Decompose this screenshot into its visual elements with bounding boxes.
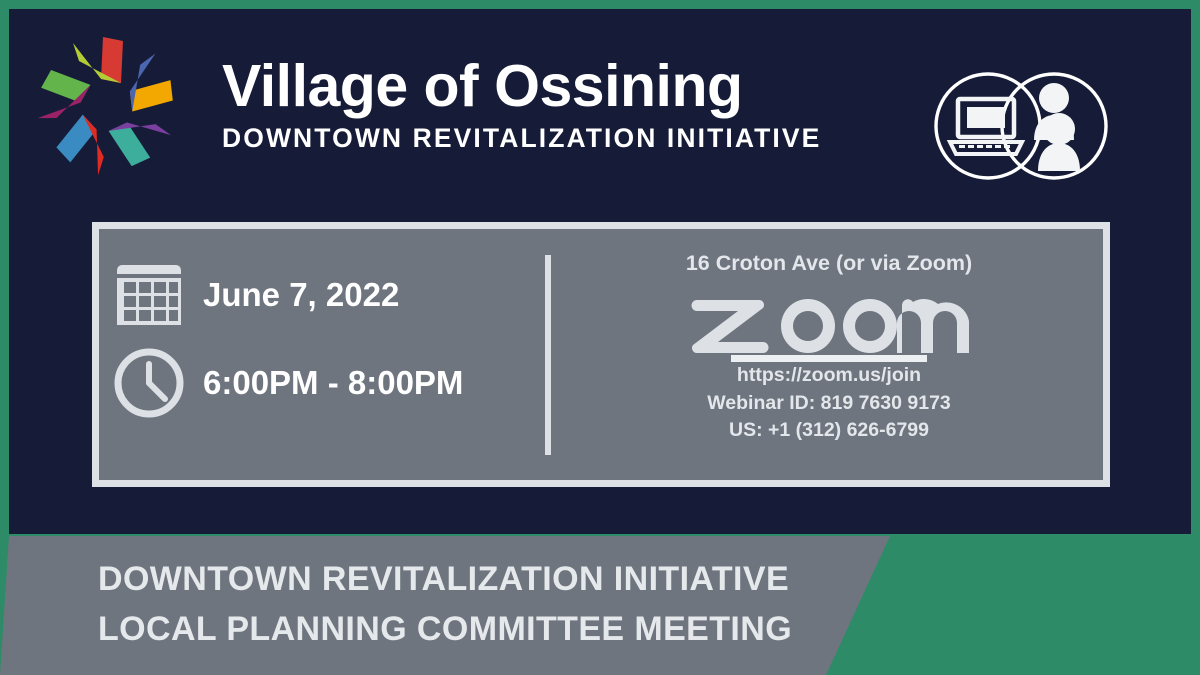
meeting-info-panel: June 7, 2022 6:00PM - 8:00PM 16 Croto [92, 222, 1110, 487]
people-glyph [1034, 83, 1080, 171]
zoom-logo [689, 282, 969, 362]
zoom-webinar-id: Webinar ID: 819 7630 9173 [569, 390, 1089, 418]
panel-divider [545, 255, 551, 455]
banner-line-1: DOWNTOWN REVITALIZATION INITIATIVE [98, 555, 858, 605]
bottom-banner-text: DOWNTOWN REVITALIZATION INITIATIVE LOCAL… [98, 555, 858, 654]
page-title: Village of Ossining [222, 56, 842, 117]
calendar-icon [111, 257, 187, 333]
date-row: June 7, 2022 [111, 251, 551, 339]
ossining-starburst-logo-icon [24, 22, 190, 188]
zoom-dial-in-number: US: +1 (312) 626-6799 [569, 417, 1089, 445]
laptop-glyph [950, 99, 1022, 154]
meeting-address: 16 Croton Ave (or via Zoom) [569, 251, 1089, 276]
time-row: 6:00PM - 8:00PM [111, 339, 551, 427]
flyer-slide: Village of Ossining DOWNTOWN REVITALIZAT… [0, 0, 1200, 675]
clock-icon [111, 345, 187, 421]
page-subtitle: DOWNTOWN REVITALIZATION INITIATIVE [222, 123, 842, 154]
location-column: 16 Croton Ave (or via Zoom) [569, 251, 1089, 445]
meeting-time: 6:00PM - 8:00PM [203, 364, 463, 402]
date-time-column: June 7, 2022 6:00PM - 8:00PM [111, 251, 551, 427]
banner-line-2: LOCAL PLANNING COMMITTEE MEETING [98, 605, 858, 655]
zoom-join-url: https://zoom.us/join [569, 362, 1089, 390]
laptop-and-people-venn-icon [926, 66, 1116, 186]
header-title-block: Village of Ossining DOWNTOWN REVITALIZAT… [222, 56, 842, 154]
meeting-date: June 7, 2022 [203, 276, 399, 314]
